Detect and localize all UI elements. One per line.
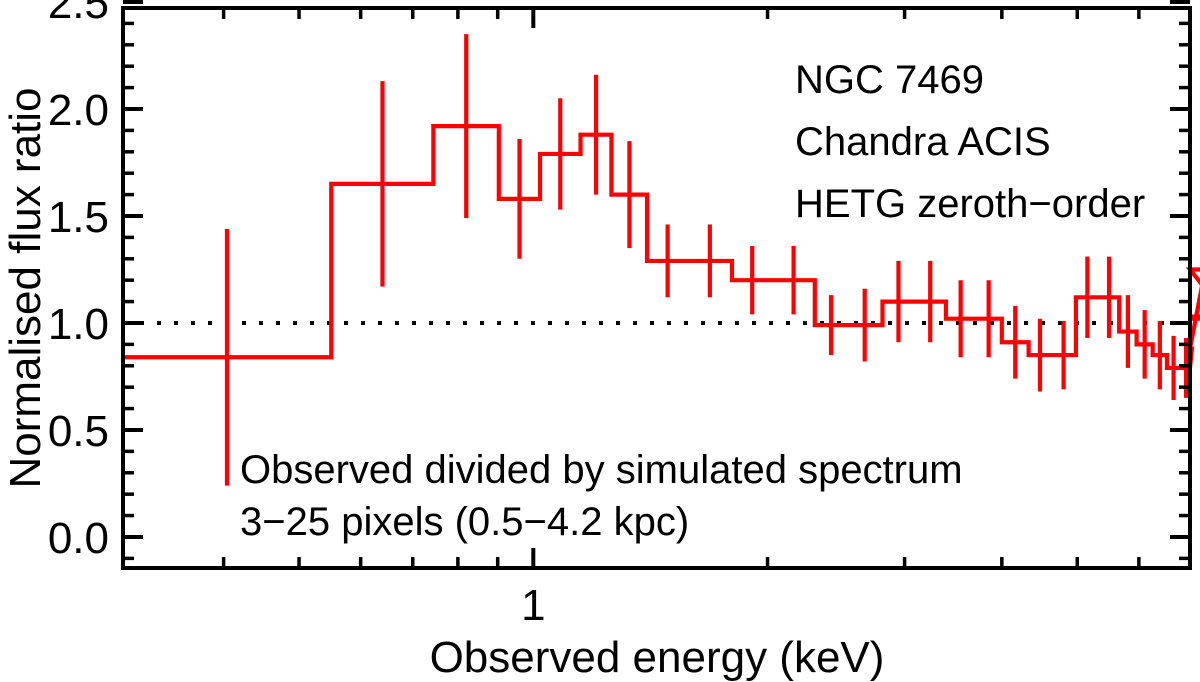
x-tick-labels: 1 [521,581,545,630]
y-tick-label: 0.0 [48,514,109,563]
flux-ratio-plot: 0.00.51.01.52.02.5 1 NGC 7469Chandra ACI… [0,0,1200,682]
annotation-red: 3−25 pixels (0.5−4.2 kpc) [240,500,689,544]
annotation-black: NGC 7469 [795,58,984,102]
x-axis-title: Observed energy (keV) [430,633,885,682]
annotation-black: Chandra ACIS [795,120,1051,164]
y-tick-labels: 0.00.51.01.52.02.5 [48,0,109,563]
y-tick-label: 2.5 [48,0,109,28]
y-tick-label: 1.0 [48,300,109,349]
x-tick-label: 1 [521,581,545,630]
annotation-black: HETG zeroth−order [795,182,1145,226]
y-tick-label: 0.5 [48,407,109,456]
data-series-observed-over-simulated [123,34,1200,486]
annotation-red: Observed divided by simulated spectrum [240,448,963,492]
plot-annotations: NGC 7469Chandra ACISHETG zeroth−orderObs… [240,58,1145,544]
y-axis-title: Normalised flux ratio [1,87,50,488]
y-tick-label: 2.0 [48,86,109,135]
figure-canvas: 0.00.51.01.52.02.5 1 NGC 7469Chandra ACI… [0,0,1200,682]
y-tick-label: 1.5 [48,193,109,242]
